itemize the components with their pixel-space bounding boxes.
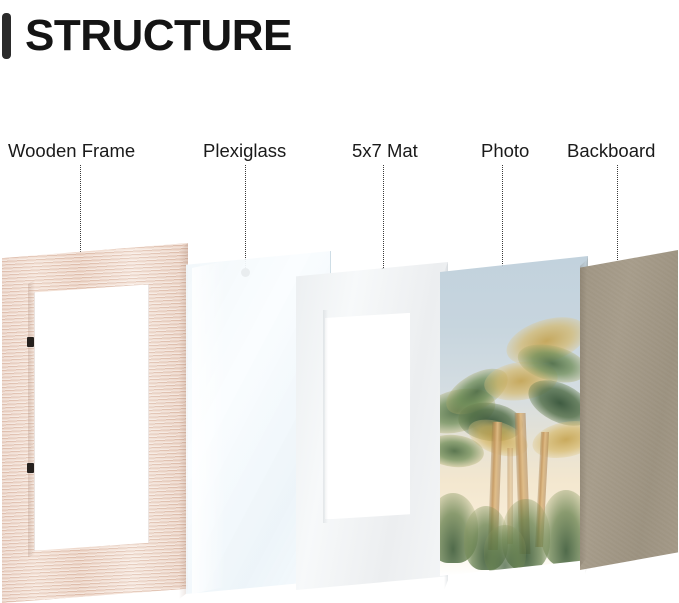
frame-clip-upper — [27, 337, 34, 347]
layer-wooden-frame — [2, 243, 188, 603]
understory-shrub — [484, 525, 525, 576]
mat-window-shadow — [323, 310, 328, 523]
plexiglass-highlight — [192, 258, 224, 594]
wooden-frame-opening — [34, 284, 149, 550]
layer-mat — [296, 262, 448, 590]
backboard-face — [580, 250, 678, 570]
photo-print-face — [440, 256, 588, 576]
layer-backboard — [580, 250, 678, 570]
wooden-frame-inner-bevel — [28, 275, 35, 559]
backboard-left-shadow — [580, 250, 587, 570]
layer-photo — [440, 256, 588, 576]
mat-cutout-window — [325, 313, 410, 520]
frame-clip-lower — [27, 463, 34, 473]
exploded-view-stage — [0, 0, 679, 591]
